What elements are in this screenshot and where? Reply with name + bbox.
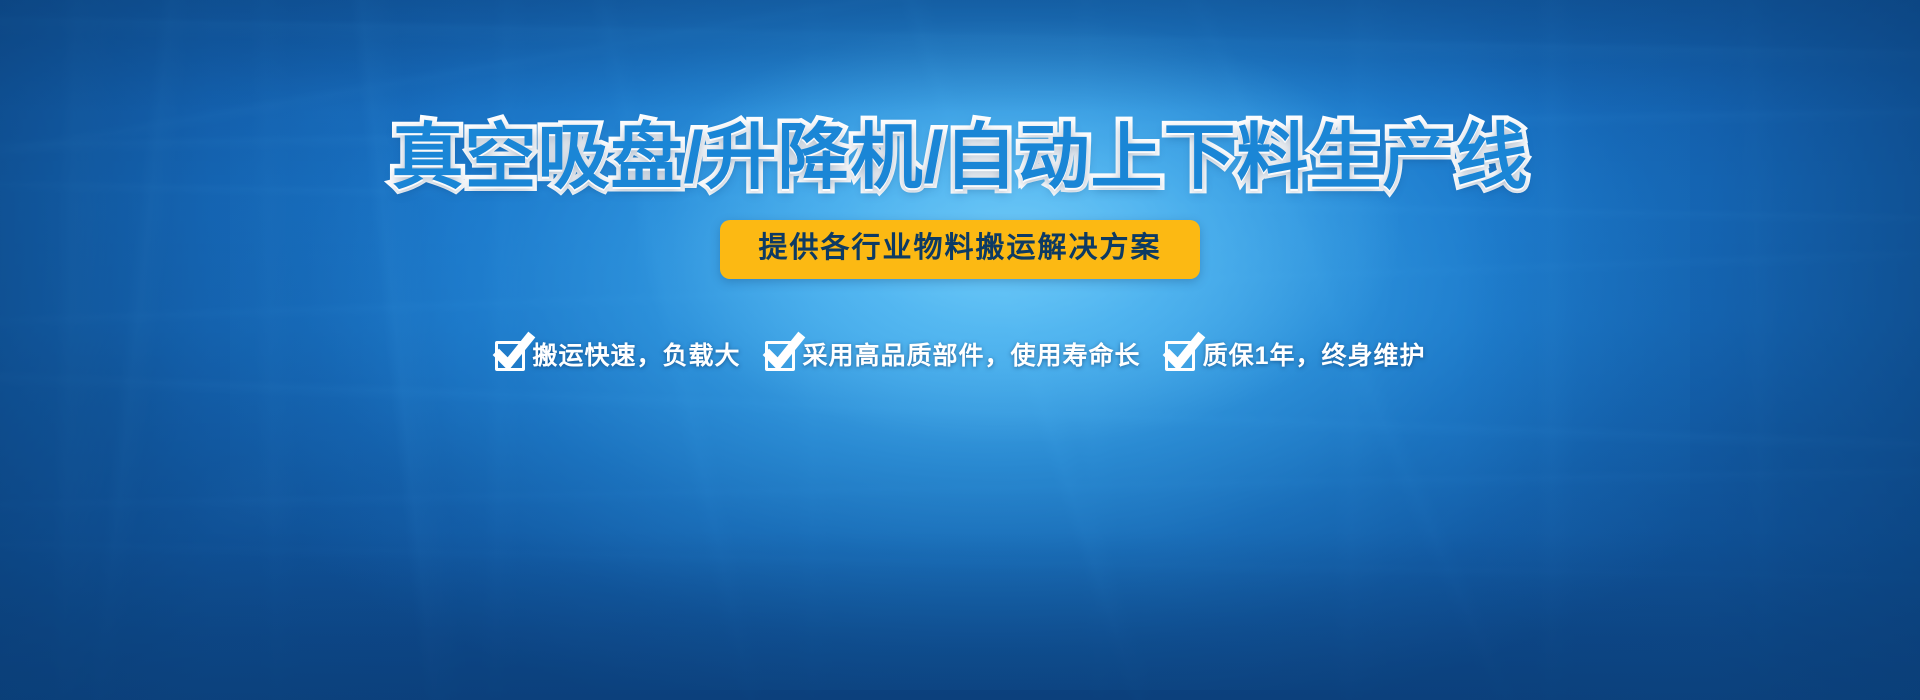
checkmark-icon [765, 341, 795, 371]
feature-item: 搬运快速，负载大 [495, 341, 741, 371]
feature-item: 质保1年，终身维护 [1165, 341, 1426, 371]
checkmark-icon [495, 341, 525, 371]
feature-label: 质保1年，终身维护 [1203, 344, 1426, 369]
feature-label: 搬运快速，负载大 [533, 344, 741, 369]
promotional-banner: 真空吸盘/升降机/自动上下料生产线 提供各行业物料搬运解决方案 搬运快速，负载大 [0, 0, 1920, 700]
banner-headline: 真空吸盘/升降机/自动上下料生产线 [391, 122, 1528, 194]
banner-content: 真空吸盘/升降机/自动上下料生产线 提供各行业物料搬运解决方案 搬运快速，负载大 [0, 0, 1920, 700]
badge-row: 提供各行业物料搬运解决方案 [720, 220, 1199, 279]
feature-list: 搬运快速，负载大 采用高品质部件，使用寿命长 质保1年，终身维护 [495, 341, 1426, 371]
checkmark-icon [1165, 341, 1195, 371]
feature-label: 采用高品质部件，使用寿命长 [803, 344, 1141, 369]
tagline-badge: 提供各行业物料搬运解决方案 [720, 220, 1199, 279]
feature-item: 采用高品质部件，使用寿命长 [765, 341, 1141, 371]
